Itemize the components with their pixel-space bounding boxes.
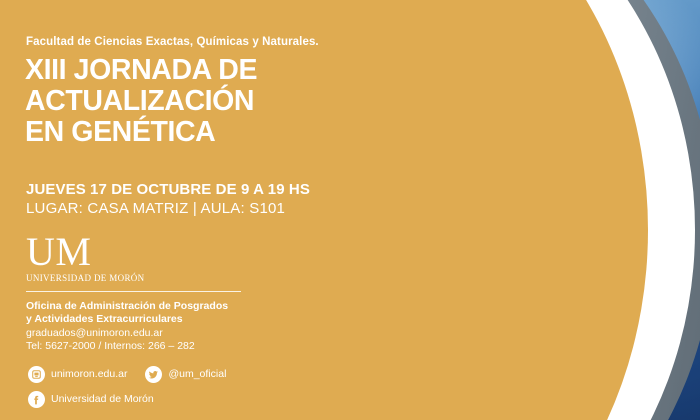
contact-phone: Tel: 5627-2000 / Internos: 266 – 282 [26, 340, 195, 352]
um-logo: UM UNIVERSIDAD DE MORÓN [26, 232, 145, 283]
social-row-2: Universidad de Morón [28, 388, 244, 410]
twitter-icon [145, 366, 162, 383]
social-link-website[interactable]: unimoron.edu.ar [28, 366, 127, 383]
contact-email[interactable]: graduados@unimoron.edu.ar [26, 327, 163, 339]
social-label-facebook: Universidad de Morón [51, 393, 154, 405]
social-label-twitter: @um_oficial [168, 368, 226, 380]
um-logo-name: UNIVERSIDAD DE MORÓN [26, 273, 145, 283]
social-link-twitter[interactable]: @um_oficial [145, 366, 226, 383]
event-location: LUGAR: CASA MATRIZ | AULA: S101 [26, 200, 285, 217]
um-logo-mark: UM [26, 232, 145, 272]
poster-content: Facultad de Ciencias Exactas, Químicas y… [0, 0, 360, 420]
office-line-1: Oficina de Administración de Posgrados [26, 300, 276, 313]
office-line-2: y Actividades Extracurriculares [26, 313, 276, 326]
event-date: JUEVES 17 DE OCTUBRE DE 9 A 19 HS [26, 181, 310, 198]
poster-canvas: Facultad de Ciencias Exactas, Químicas y… [0, 0, 700, 420]
office-name: Oficina de Administración de Posgrados y… [26, 300, 276, 326]
social-links: unimoron.edu.ar @um_oficial [28, 363, 244, 413]
faculty-line: Facultad de Ciencias Exactas, Químicas y… [26, 36, 319, 48]
title-line-1: XIII JORNADA DE [25, 55, 345, 86]
facebook-icon [28, 391, 45, 408]
title-line-2: ACTUALIZACIÓN [25, 86, 345, 117]
website-icon [28, 366, 45, 383]
social-label-website: unimoron.edu.ar [51, 368, 127, 380]
divider-line [26, 291, 241, 292]
title-line-3: EN GENÉTICA [25, 117, 345, 148]
page-title: XIII JORNADA DE ACTUALIZACIÓN EN GENÉTIC… [25, 55, 345, 148]
social-link-facebook[interactable]: Universidad de Morón [28, 391, 154, 408]
social-row-1: unimoron.edu.ar @um_oficial [28, 363, 244, 385]
